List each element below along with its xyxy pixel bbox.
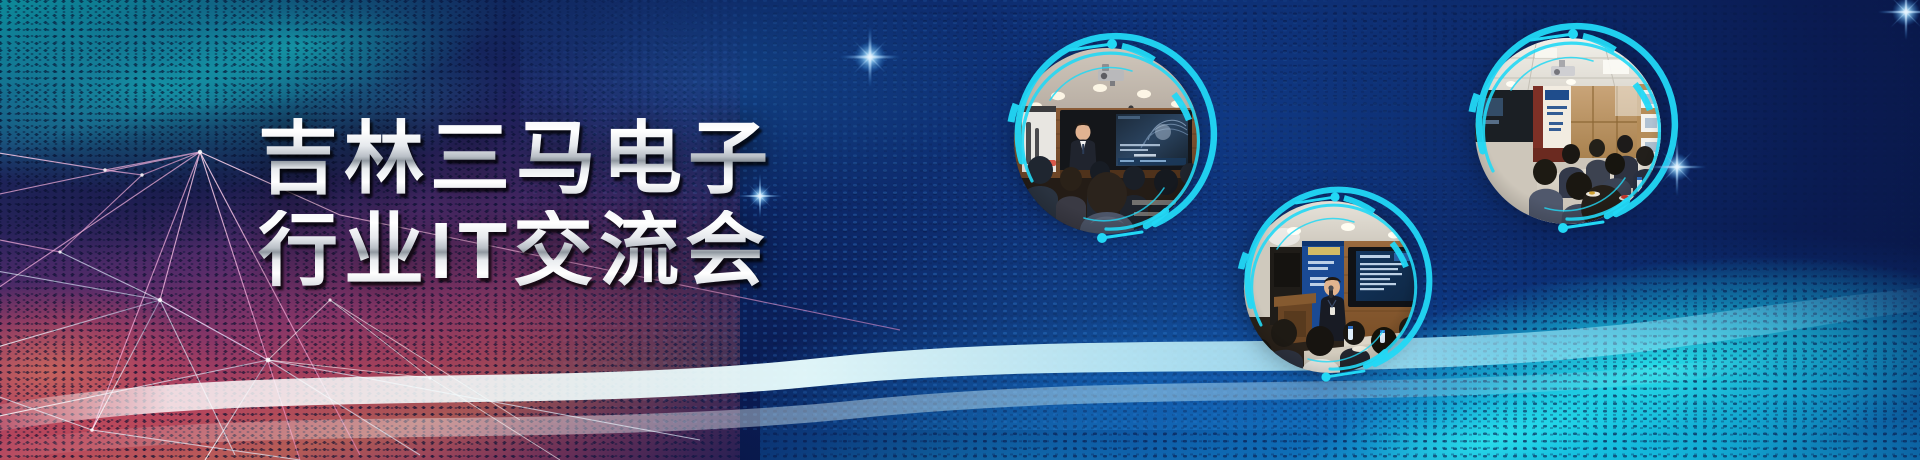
tech-ring-decoration xyxy=(1475,38,1661,224)
tech-ring-decoration xyxy=(1244,201,1416,373)
photo-circle-presenter-with-microphone[interactable] xyxy=(1244,201,1416,373)
photo-circle-meeting-room-discussion[interactable] xyxy=(1475,38,1661,224)
title-line-1: 吉林三马电子 xyxy=(258,118,818,200)
tech-ring-decoration xyxy=(1014,48,1200,234)
event-banner: 吉林三马电子 行业IT交流会 xyxy=(0,0,1920,460)
banner-title: 吉林三马电子 行业IT交流会 xyxy=(258,118,818,291)
title-line-2: 行业IT交流会 xyxy=(258,210,818,292)
photo-circle-seminar-lecture-hall[interactable] xyxy=(1014,48,1200,234)
